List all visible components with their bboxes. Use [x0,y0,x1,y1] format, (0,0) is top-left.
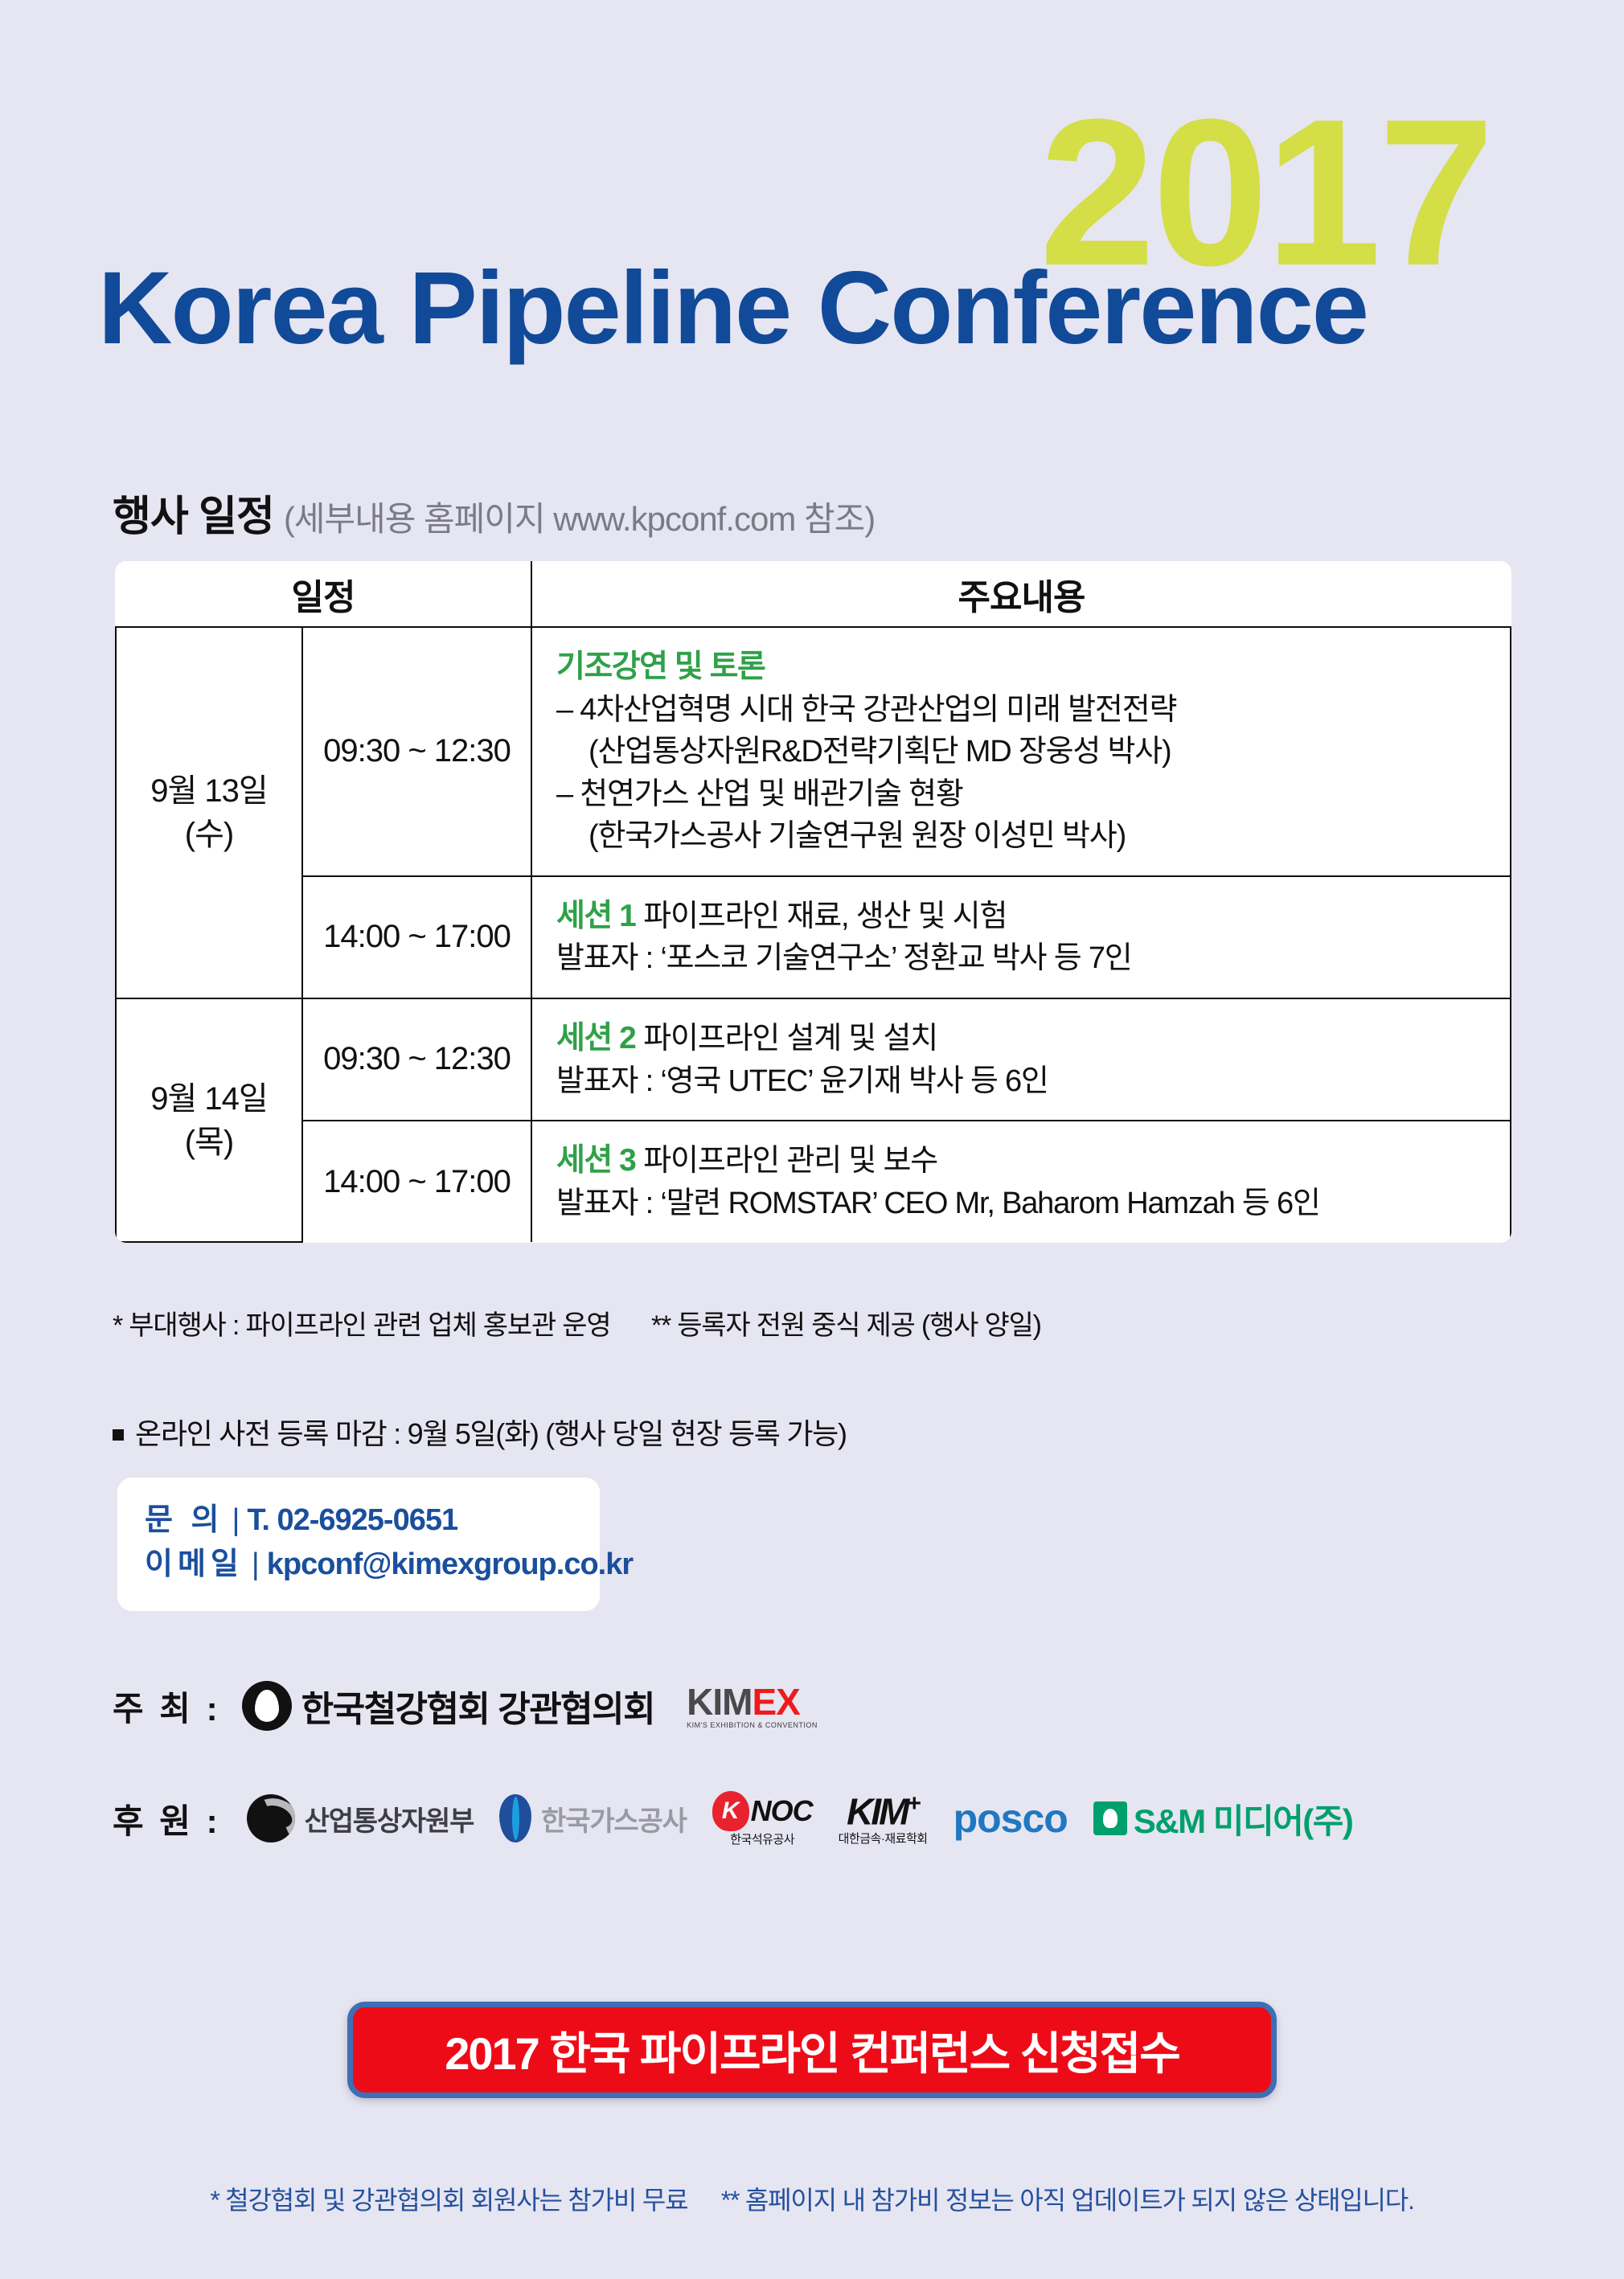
page-title: Korea Pipeline Conference [98,257,1368,360]
sponsor-name-kogas: 한국가스공사 [541,1799,686,1838]
table-row: 9월 14일 (목) 09:30 ~ 12:30 세션 2파이프라인 설계 및 … [116,998,1511,1121]
kimex-logo: KIMEX KIM'S EXHIBITION & CONVENTION [687,1683,818,1729]
government-emblem-icon [247,1794,295,1842]
schedule-heading-note: (세부내용 홈페이지 www.kpconf.com 참조) [284,492,875,541]
session-label: 세션 1 [556,899,635,933]
kim-text: KIM [847,1791,907,1833]
topic-cell-session2: 세션 2파이프라인 설계 및 설치 발표자 : ‘영국 UTEC’ 윤기재 박사… [531,998,1511,1121]
column-header-topic: 주요내용 [531,561,1511,627]
poster-header: 2017 Korea Pipeline Conference [0,0,1624,418]
date-line-2: (목) [117,1121,301,1164]
topic-cell-session3: 세션 3파이프라인 관리 및 보수 발표자 : ‘말련 ROMSTAR’ CEO… [531,1121,1511,1242]
contact-box: 문 의|T. 02-6925-0651 이메일|kpconf@kimexgrou… [117,1478,600,1611]
schedule-heading-text: 행사 일정 [113,482,274,543]
contact-phone-label: 문 의 [145,1503,224,1537]
kim-subtitle: 대한금속·재료학회 [839,1833,928,1845]
sm-media-logo: S&M 미디어(주) [1093,1794,1353,1843]
table-row: 14:00 ~ 17:00 세션 1파이프라인 재료, 생산 및 시험 발표자 … [116,876,1511,998]
footer-notes: * 철강협회 및 강관협의회 회원사는 참가비 무료 ** 홈페이지 내 참가비… [0,2180,1624,2217]
kimex-kim-text: KIM [687,1681,752,1723]
table-row: 9월 13일 (수) 09:30 ~ 12:30 기조강연 및 토론 – 4차산… [116,627,1511,876]
registration-cta-button[interactable]: 2017 한국 파이프라인 컨퍼런스 신청접수 [347,2002,1277,2098]
registration-cta-label: 2017 한국 파이프라인 컨퍼런스 신청접수 [445,2018,1179,2083]
sponsor-label: 후 원 : [113,1794,221,1843]
kim-society-logo: KIM+ 대한금속·재료학회 [839,1792,928,1844]
date-line-1: 9월 13일 [117,769,301,813]
schedule-notes: * 부대행사 : 파이프라인 관련 업체 홍보관 운영 ** 등록자 전원 중식… [113,1303,1041,1342]
time-cell: 09:30 ~ 12:30 [302,998,531,1121]
topic-heading: 기조강연 및 토론 [556,646,1495,689]
knoc-k-badge-icon: K [712,1791,749,1831]
column-header-date: 일정 [116,561,531,627]
sponsor-name-motie: 산업통상자원부 [305,1799,474,1838]
deadline-text: 온라인 사전 등록 마감 : 9월 5일(화) (행사 당일 현장 등록 가능) [135,1417,847,1450]
session-label: 세션 3 [556,1143,635,1178]
kimex-wordmark: KIMEX [687,1681,800,1723]
time-cell: 09:30 ~ 12:30 [302,627,531,876]
knoc-subtitle: 한국석유공사 [730,1834,794,1846]
contact-phone-line: 문 의|T. 02-6925-0651 [145,1498,572,1543]
kogas-logo: 한국가스공사 [499,1794,686,1842]
knoc-noc-text: NOC [751,1797,813,1826]
host-label: 주 최 : [113,1682,221,1731]
session-presenter: 발표자 : ‘포스코 기술연구소’ 정환교 박사 등 7인 [556,937,1495,979]
date-cell-day1: 9월 13일 (수) [116,627,302,998]
sponsor-row: 후 원 : 산업통상자원부 한국가스공사 K NOC 한국석유공사 KIM+ 대… [113,1791,1352,1846]
kogas-leaf-icon [499,1794,531,1842]
session-title: 파이프라인 재료, 생산 및 시험 [643,900,1007,933]
host-name: 한국철강협회 강관협의회 [301,1680,655,1732]
schedule-table: 일정 주요내용 9월 13일 (수) 09:30 ~ 12:30 기조강연 및 … [115,561,1511,1243]
contact-email-line: 이메일|kpconf@kimexgroup.co.kr [145,1543,572,1587]
table-header-row: 일정 주요내용 [116,561,1511,627]
time-cell: 14:00 ~ 17:00 [302,1121,531,1242]
session-line: 세션 1파이프라인 재료, 생산 및 시험 [556,895,1495,938]
sm-media-mark-icon [1093,1801,1127,1835]
session-presenter: 발표자 : ‘영국 UTEC’ 윤기재 박사 등 6인 [556,1060,1495,1102]
table-row: 14:00 ~ 17:00 세션 3파이프라인 관리 및 보수 발표자 : ‘말… [116,1121,1511,1242]
kimex-ex-text: EX [752,1681,799,1723]
knoc-wordmark: K NOC [712,1791,813,1831]
contact-email-label: 이메일 [145,1547,244,1581]
kosa-logo: 한국철강협회 강관협의회 [242,1680,655,1732]
poster-root: 2017 Korea Pipeline Conference 행사 일정 (세부… [0,0,1624,2279]
date-line-1: 9월 14일 [117,1077,301,1121]
contact-separator: | [252,1547,259,1581]
topic-bullet-2: – 천연가스 산업 및 배관기술 현황 [556,773,1495,815]
note-lunch: ** 등록자 전원 중식 제공 (행사 양일) [651,1310,1041,1341]
session-title: 파이프라인 설계 및 설치 [643,1022,937,1055]
topic-bullet-2-sub: (한국가스공사 기술연구원 원장 이성민 박사) [556,815,1495,857]
topic-cell-session1: 세션 1파이프라인 재료, 생산 및 시험 발표자 : ‘포스코 기술연구소’ … [531,876,1511,998]
contact-separator: | [232,1503,239,1537]
session-title: 파이프라인 관리 및 보수 [643,1144,937,1178]
contact-email-value[interactable]: kpconf@kimexgroup.co.kr [267,1547,633,1581]
date-line-2: (수) [117,813,301,856]
square-bullet-icon [113,1429,124,1441]
kimex-tagline: KIM'S EXHIBITION & CONVENTION [687,1722,818,1729]
knoc-logo: K NOC 한국석유공사 [712,1791,813,1846]
registration-deadline: 온라인 사전 등록 마감 : 9월 5일(화) (행사 당일 현장 등록 가능) [113,1411,847,1453]
posco-logo: posco [953,1798,1068,1838]
time-cell: 14:00 ~ 17:00 [302,876,531,998]
topic-bullet-1-sub: (산업통상자원R&D전략기획단 MD 장웅성 박사) [556,731,1495,773]
topic-cell-keynote: 기조강연 및 토론 – 4차산업혁명 시대 한국 강관산업의 미래 발전전략 (… [531,627,1511,876]
footer-note-free: * 철강협회 및 강관협의회 회원사는 참가비 무료 [210,2186,687,2215]
schedule-table-wrap: 일정 주요내용 9월 13일 (수) 09:30 ~ 12:30 기조강연 및 … [115,561,1511,1243]
topic-bullet-1: – 4차산업혁명 시대 한국 강관산업의 미래 발전전략 [556,689,1495,731]
note-side-events: * 부대행사 : 파이프라인 관련 업체 홍보관 운영 [113,1310,610,1341]
knoc-k-letter: K [722,1799,740,1823]
steel-association-seal-icon [242,1681,292,1731]
schedule-heading: 행사 일정 (세부내용 홈페이지 www.kpconf.com 참조) [113,482,875,543]
sm-media-text: S&M 미디어(주) [1134,1794,1353,1843]
date-cell-day2: 9월 14일 (목) [116,998,302,1243]
kim-wordmark: KIM+ [847,1792,919,1830]
organizer-row: 주 최 : 한국철강협회 강관협의회 KIMEX KIM'S EXHIBITIO… [113,1680,818,1732]
session-line: 세션 3파이프라인 관리 및 보수 [556,1139,1495,1183]
motie-logo: 산업통상자원부 [247,1794,474,1842]
session-line: 세션 2파이프라인 설계 및 설치 [556,1017,1495,1060]
session-label: 세션 2 [556,1021,635,1055]
contact-phone-value[interactable]: T. 02-6925-0651 [247,1503,457,1537]
footer-note-update: ** 홈페이지 내 참가비 정보는 아직 업데이트가 되지 않은 상태입니다. [721,2186,1414,2215]
session-presenter: 발표자 : ‘말련 ROMSTAR’ CEO Mr, Baharom Hamza… [556,1183,1495,1224]
kim-plus-icon: + [908,1790,920,1817]
